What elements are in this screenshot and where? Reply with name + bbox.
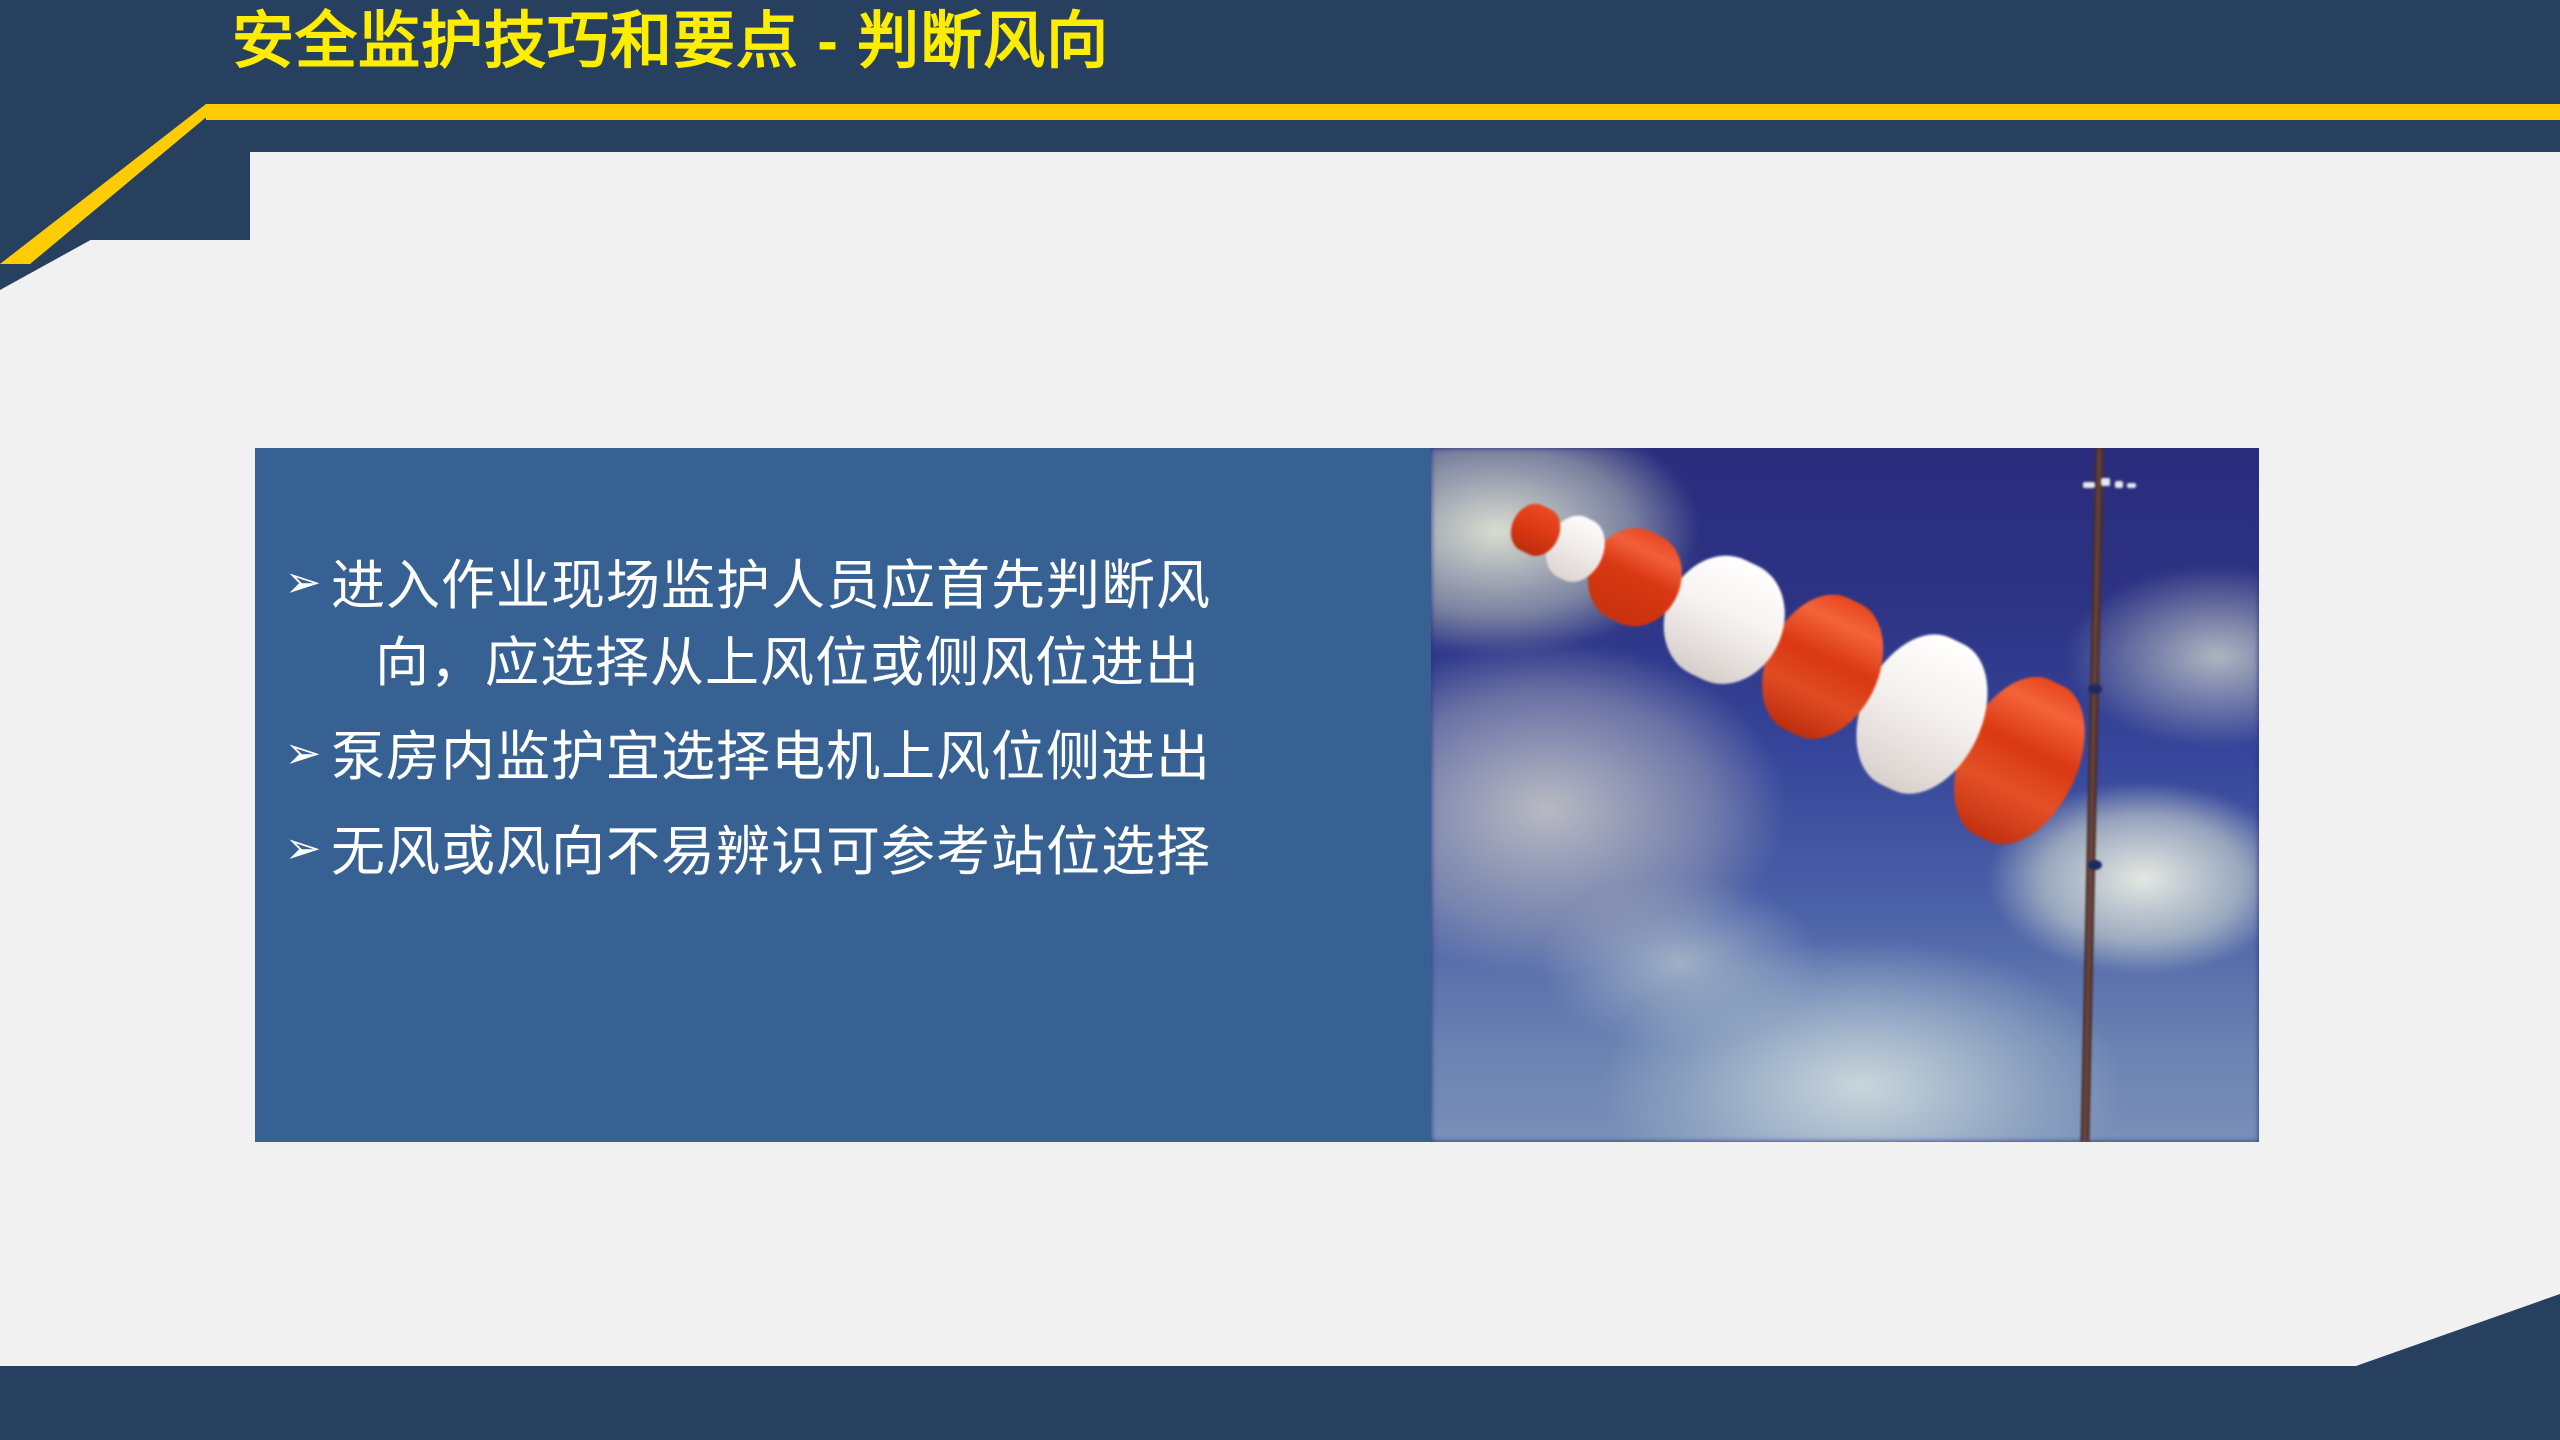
bullet-text: 无风或风向不易辨识可参考站位选择 <box>331 814 1391 891</box>
mast-top-fittings <box>2081 476 2139 492</box>
bullet-arrow-icon: ➢ <box>275 814 331 884</box>
bullet-line-2: 向，应选择从上风位或侧风位进出 <box>331 625 1391 702</box>
bullet-line-1: 进入作业现场监护人员应首先判断风 <box>331 556 1211 616</box>
list-item: ➢ 无风或风向不易辨识可参考站位选择 <box>275 814 1391 891</box>
bullet-text: 泵房内监护宜选择电机上风位侧进出 <box>331 719 1391 796</box>
content-panel: ➢ 进入作业现场监护人员应首先判断风 向，应选择从上风位或侧风位进出 ➢ 泵房内… <box>255 448 1431 1142</box>
gold-accent-line-diagonal <box>0 104 240 264</box>
list-item: ➢ 泵房内监护宜选择电机上风位侧进出 <box>275 719 1391 796</box>
mast-node-lower <box>2088 860 2102 870</box>
bullet-list: ➢ 进入作业现场监护人员应首先判断风 向，应选择从上风位或侧风位进出 ➢ 泵房内… <box>275 548 1391 891</box>
bullet-text: 进入作业现场监护人员应首先判断风 向，应选择从上风位或侧风位进出 <box>331 548 1391 701</box>
bullet-arrow-icon: ➢ <box>275 548 331 618</box>
list-item: ➢ 进入作业现场监护人员应首先判断风 向，应选择从上风位或侧风位进出 <box>275 548 1391 701</box>
gold-accent-line-horizontal <box>206 104 2560 120</box>
bullet-arrow-icon: ➢ <box>275 719 331 789</box>
footer-navy-bar <box>0 1294 2560 1440</box>
slide-canvas: 安全监护技巧和要点 - 判断风向 ➢ 进入作业现场监护人员应首先判断风 向，应选… <box>0 0 2560 1440</box>
windsock-photo <box>1431 448 2259 1142</box>
page-title: 安全监护技巧和要点 - 判断风向 <box>232 8 1109 76</box>
